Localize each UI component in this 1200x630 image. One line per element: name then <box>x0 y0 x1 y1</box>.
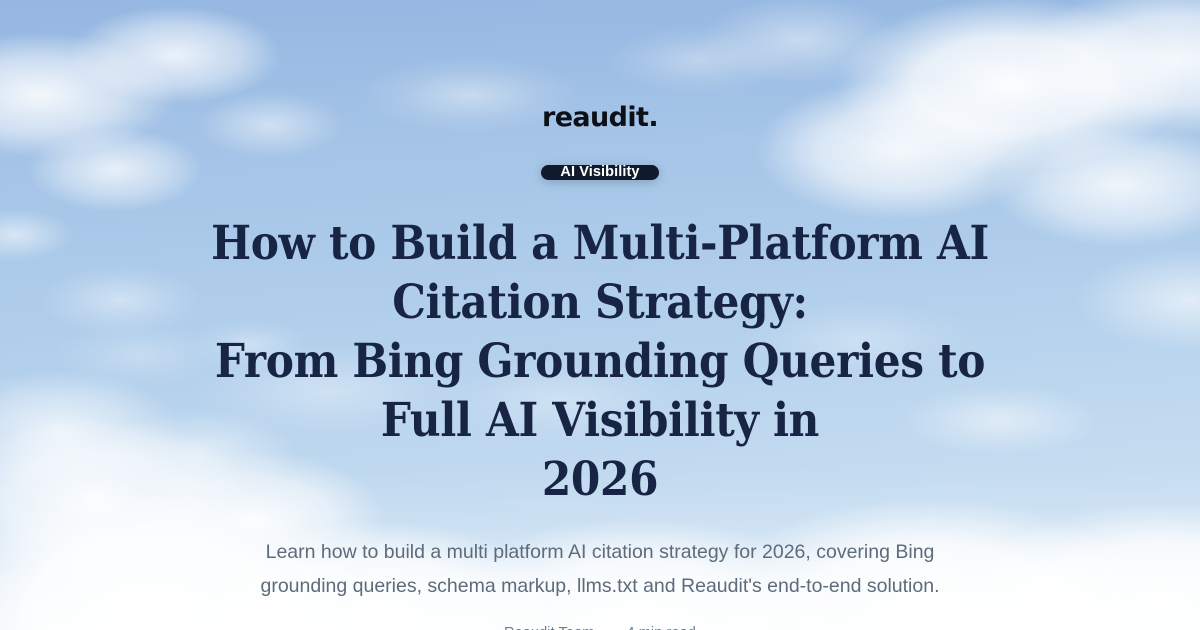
brand-logo[interactable]: reaudit. <box>542 104 658 131</box>
card-content: reaudit. AI Visibility How to Build a Mu… <box>0 0 1200 630</box>
post-author: Reaudit Team <box>504 625 594 630</box>
page-title-line-3: 2026 <box>542 452 658 507</box>
post-meta: Reaudit Team 4 min read <box>504 625 696 630</box>
category-badge[interactable]: AI Visibility <box>541 165 658 180</box>
og-share-card: reaudit. AI Visibility How to Build a Mu… <box>0 0 1200 630</box>
post-subtitle: Learn how to build a multi platform AI c… <box>244 536 956 604</box>
page-title: How to Build a Multi-Platform AI Citatio… <box>195 214 1005 510</box>
page-title-line-1: How to Build a Multi-Platform AI Citatio… <box>211 216 989 330</box>
post-read-time: 4 min read <box>626 625 696 630</box>
page-title-line-2: From Bing Grounding Queries to Full AI V… <box>215 334 985 448</box>
